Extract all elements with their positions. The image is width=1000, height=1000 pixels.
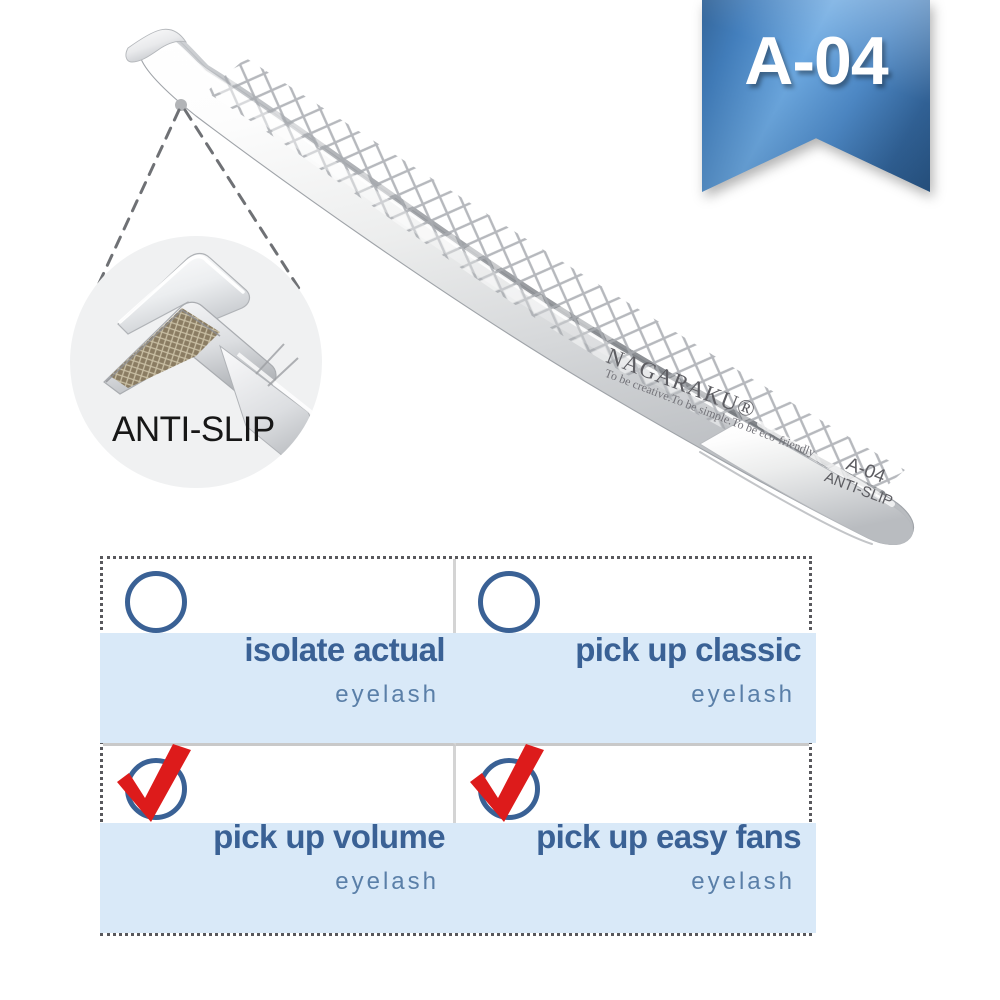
feature-subtitle: eyelash — [103, 868, 439, 896]
feature-subtitle: eyelash — [456, 681, 795, 709]
feature-status-marker-3 — [125, 758, 187, 820]
circle-outline-icon — [125, 571, 187, 633]
red-check-icon — [464, 740, 554, 830]
feature-status-marker-1 — [125, 571, 187, 633]
feature-comparison-grid: isolate actual eyelash pick up classic e… — [100, 556, 812, 936]
model-code-ribbon: A-04 — [702, 0, 930, 192]
feature-cell-pick-up-easy-fans[interactable]: pick up easy fans eyelash — [456, 746, 809, 933]
ribbon-code-label: A-04 — [702, 22, 930, 100]
feature-subtitle: eyelash — [456, 868, 795, 896]
feature-title: pick up classic — [456, 631, 801, 669]
product-photo: ANTI-SLIP NAGARAKU® To be creative.To be… — [0, 0, 1000, 545]
magnified-tip-illustration — [70, 236, 322, 488]
feature-status-marker-4 — [478, 758, 540, 820]
feature-status-marker-2 — [478, 571, 540, 633]
feature-title: isolate actual — [103, 631, 445, 669]
feature-cell-pick-up-volume[interactable]: pick up volume eyelash — [103, 746, 456, 933]
feature-subtitle: eyelash — [103, 681, 439, 709]
circle-outline-icon — [478, 571, 540, 633]
product-image-stage: ANTI-SLIP NAGARAKU® To be creative.To be… — [0, 0, 1000, 1000]
anti-slip-magnifier — [70, 236, 322, 488]
red-check-icon — [111, 740, 201, 830]
anti-slip-caption: ANTI-SLIP — [112, 410, 275, 450]
feature-grid-inner: isolate actual eyelash pick up classic e… — [103, 559, 809, 933]
feature-cell-pick-up-classic[interactable]: pick up classic eyelash — [456, 559, 809, 746]
feature-cell-isolate-actual[interactable]: isolate actual eyelash — [103, 559, 456, 746]
